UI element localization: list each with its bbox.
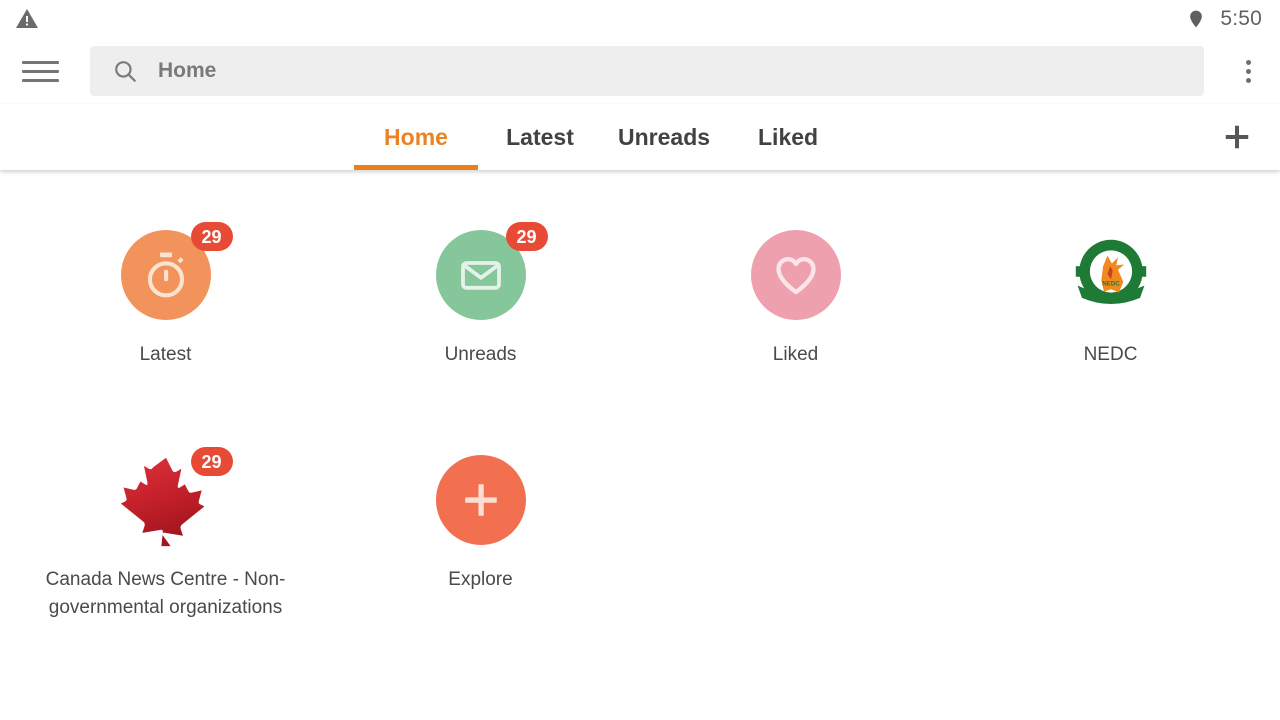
tab-unreads[interactable]: Unreads [602,104,726,170]
nedc-emblem-icon: NEDC [1067,231,1155,319]
add-feed-button[interactable] [1214,114,1260,160]
tab-latest[interactable]: Latest [478,104,602,170]
status-bar: 5:50 [0,0,1280,38]
tile-unreads-label: Unreads [445,341,517,369]
tab-home-label: Home [384,124,448,151]
shortcut-grid: 29 Latest 29 Unreads [0,206,1280,656]
tab-liked[interactable]: Liked [726,104,850,170]
tile-latest[interactable]: 29 Latest [8,206,323,431]
tile-nedc-art: NEDC [1066,230,1156,320]
warning-triangle-icon [14,7,40,31]
badge-count: 29 [191,447,233,476]
tile-unreads[interactable]: 29 Unreads [323,206,638,431]
tile-latest-label: Latest [140,341,192,369]
tab-bar: Home Latest Unreads Liked [0,104,1280,170]
app-bar: Home [0,38,1280,104]
search-input[interactable]: Home [90,46,1204,96]
plus-icon [1222,122,1252,152]
search-input-value: Home [158,59,216,83]
badge-count: 29 [191,222,233,251]
tile-explore-art [436,455,526,545]
status-time: 5:50 [1220,7,1262,31]
tab-unreads-label: Unreads [618,124,710,151]
tile-nedc[interactable]: NEDC NEDC [953,206,1268,431]
tile-liked-art [751,230,841,320]
search-icon [112,58,138,84]
tile-liked-label: Liked [773,341,818,369]
tile-explore[interactable]: Explore [323,431,638,656]
tile-unreads-art: 29 [436,230,526,320]
hamburger-menu-icon[interactable] [22,51,62,91]
svg-text:NEDC: NEDC [1102,281,1120,288]
tab-liked-label: Liked [758,124,818,151]
location-pin-icon [1186,7,1206,31]
plus-icon [436,455,526,545]
tile-canada-news-centre[interactable]: 29 Canada News Centre - Non-governmental… [8,431,323,656]
tile-canada-news-centre-art: 29 [121,455,211,545]
tab-latest-label: Latest [506,124,574,151]
tile-latest-art: 29 [121,230,211,320]
tile-explore-label: Explore [448,566,512,594]
more-vertical-icon[interactable] [1226,49,1270,93]
tab-home[interactable]: Home [354,104,478,170]
home-content: 29 Latest 29 Unreads [0,170,1280,720]
tile-nedc-label: NEDC [1084,341,1138,369]
heart-outline-icon [751,230,841,320]
tile-canada-news-centre-label: Canada News Centre - Non-governmental or… [42,566,290,621]
tile-liked[interactable]: Liked [638,206,953,431]
badge-count: 29 [506,222,548,251]
